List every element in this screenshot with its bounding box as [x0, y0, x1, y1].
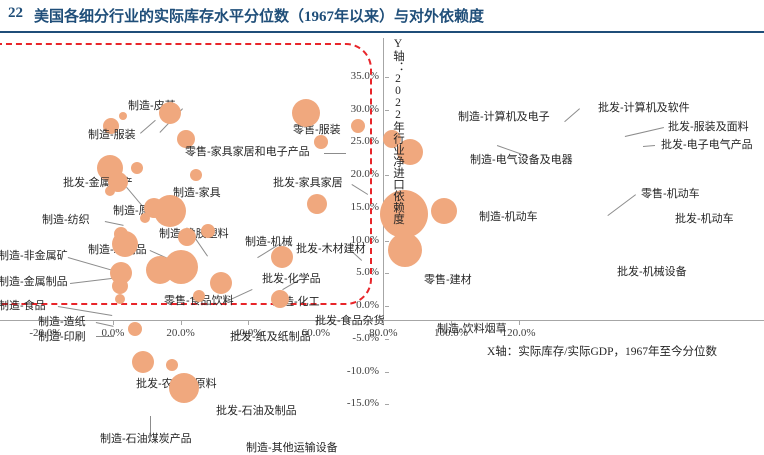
data-point-label: 制造-纺织: [42, 214, 90, 227]
data-point-label: 批发-石油及制品: [216, 405, 297, 418]
data-point-label: 批发-食品杂货: [315, 315, 385, 328]
leader-line: [324, 153, 346, 154]
data-point-label: 制造-金属制品: [0, 276, 68, 289]
y-tick: [385, 404, 389, 405]
leader-line: [607, 194, 636, 216]
y-tick-label: -15.0%: [325, 397, 379, 409]
figure-number: 22: [8, 5, 23, 22]
leader-line: [96, 336, 114, 337]
data-point-label: 制造-服装: [88, 129, 136, 142]
data-point-label: 批发-机动车: [675, 213, 734, 226]
x-tick-label: 80.0%: [353, 327, 413, 339]
figure-root: 22 美国各细分行业的实际库存水平分位数（1967年以来）与对外依赖度 35.0…: [0, 0, 764, 444]
x-tick: [181, 321, 182, 325]
y-tick: [385, 77, 389, 78]
chart-plot-area: 35.0%30.0%25.0%20.0%15.0%10.0%5.0%0.0%-5…: [0, 34, 764, 444]
data-point-label: 零售-建材: [424, 274, 472, 287]
data-point-label: 制造-石油煤炭产品: [100, 433, 192, 446]
data-point-label: 批发-服装及面料: [668, 121, 749, 134]
data-point-label: 批发-计算机及软件: [598, 102, 690, 115]
data-bubble[interactable]: [271, 246, 293, 268]
data-point-label: 批发-纸及纸制品: [230, 331, 311, 344]
data-point-label: 批发-电子电气产品: [661, 139, 753, 152]
data-bubble[interactable]: [314, 135, 328, 149]
data-point-label: 零售-机动车: [641, 188, 700, 201]
data-point-label: 批发-机械设备: [617, 266, 687, 279]
leader-line: [643, 145, 655, 147]
x-axis-title: X轴：实际库存/实际GDP，1967年至今分位数: [487, 343, 717, 359]
figure-header: 22 美国各细分行业的实际库存水平分位数（1967年以来）与对外依赖度: [0, 0, 764, 34]
data-bubble[interactable]: [169, 373, 199, 403]
data-point-label: 制造-食品: [0, 300, 46, 313]
data-bubble[interactable]: [166, 359, 178, 371]
data-point-label: 批发-木材建材: [296, 243, 366, 256]
data-bubble[interactable]: [164, 250, 198, 284]
data-bubble[interactable]: [112, 278, 128, 294]
y-tick-label: -10.0%: [325, 365, 379, 377]
data-point-label: 制造-印刷: [38, 331, 86, 344]
y-tick: [385, 306, 389, 307]
data-point-label: 制造-电气设备及电器: [470, 154, 573, 167]
data-bubble[interactable]: [128, 322, 142, 336]
leader-line: [58, 306, 112, 316]
data-bubble[interactable]: [140, 213, 150, 223]
y-tick: [385, 175, 389, 176]
y-tick: [385, 273, 389, 274]
data-point-label: 制造-饮料烟草: [437, 323, 507, 336]
y-axis-line: [383, 38, 384, 320]
data-bubble[interactable]: [190, 169, 202, 181]
data-bubble[interactable]: [105, 186, 115, 196]
x-tick-label: 20.0%: [151, 327, 211, 339]
data-bubble[interactable]: [132, 351, 154, 373]
data-point-label: 制造-非金属矿: [0, 250, 68, 263]
x-tick: [113, 321, 114, 325]
y-axis-title: Y轴：2022年行业净进口依赖度: [390, 38, 406, 225]
y-tick: [385, 110, 389, 111]
data-point-label: 制造-机动车: [479, 211, 538, 224]
data-bubble[interactable]: [351, 119, 365, 133]
data-bubble[interactable]: [431, 198, 457, 224]
data-point-label: 批发-家具家居: [273, 177, 343, 190]
data-bubble[interactable]: [201, 224, 215, 238]
data-point-label: 制造-造纸: [38, 316, 86, 329]
y-tick: [385, 241, 389, 242]
y-tick: [385, 372, 389, 373]
x-tick: [248, 321, 249, 325]
x-tick: [519, 321, 520, 325]
header-divider: [0, 31, 764, 33]
leader-line: [625, 127, 664, 137]
data-point-label: 批发-化学品: [262, 273, 321, 286]
data-bubble[interactable]: [292, 99, 320, 127]
data-bubble[interactable]: [112, 231, 138, 257]
leader-line: [564, 108, 580, 122]
figure-title: 美国各细分行业的实际库存水平分位数（1967年以来）与对外依赖度: [34, 5, 484, 26]
data-point-label: 零售-家具家居和电子产品: [185, 146, 310, 159]
data-point-label: 制造-计算机及电子: [458, 111, 550, 124]
data-bubble[interactable]: [388, 233, 422, 267]
